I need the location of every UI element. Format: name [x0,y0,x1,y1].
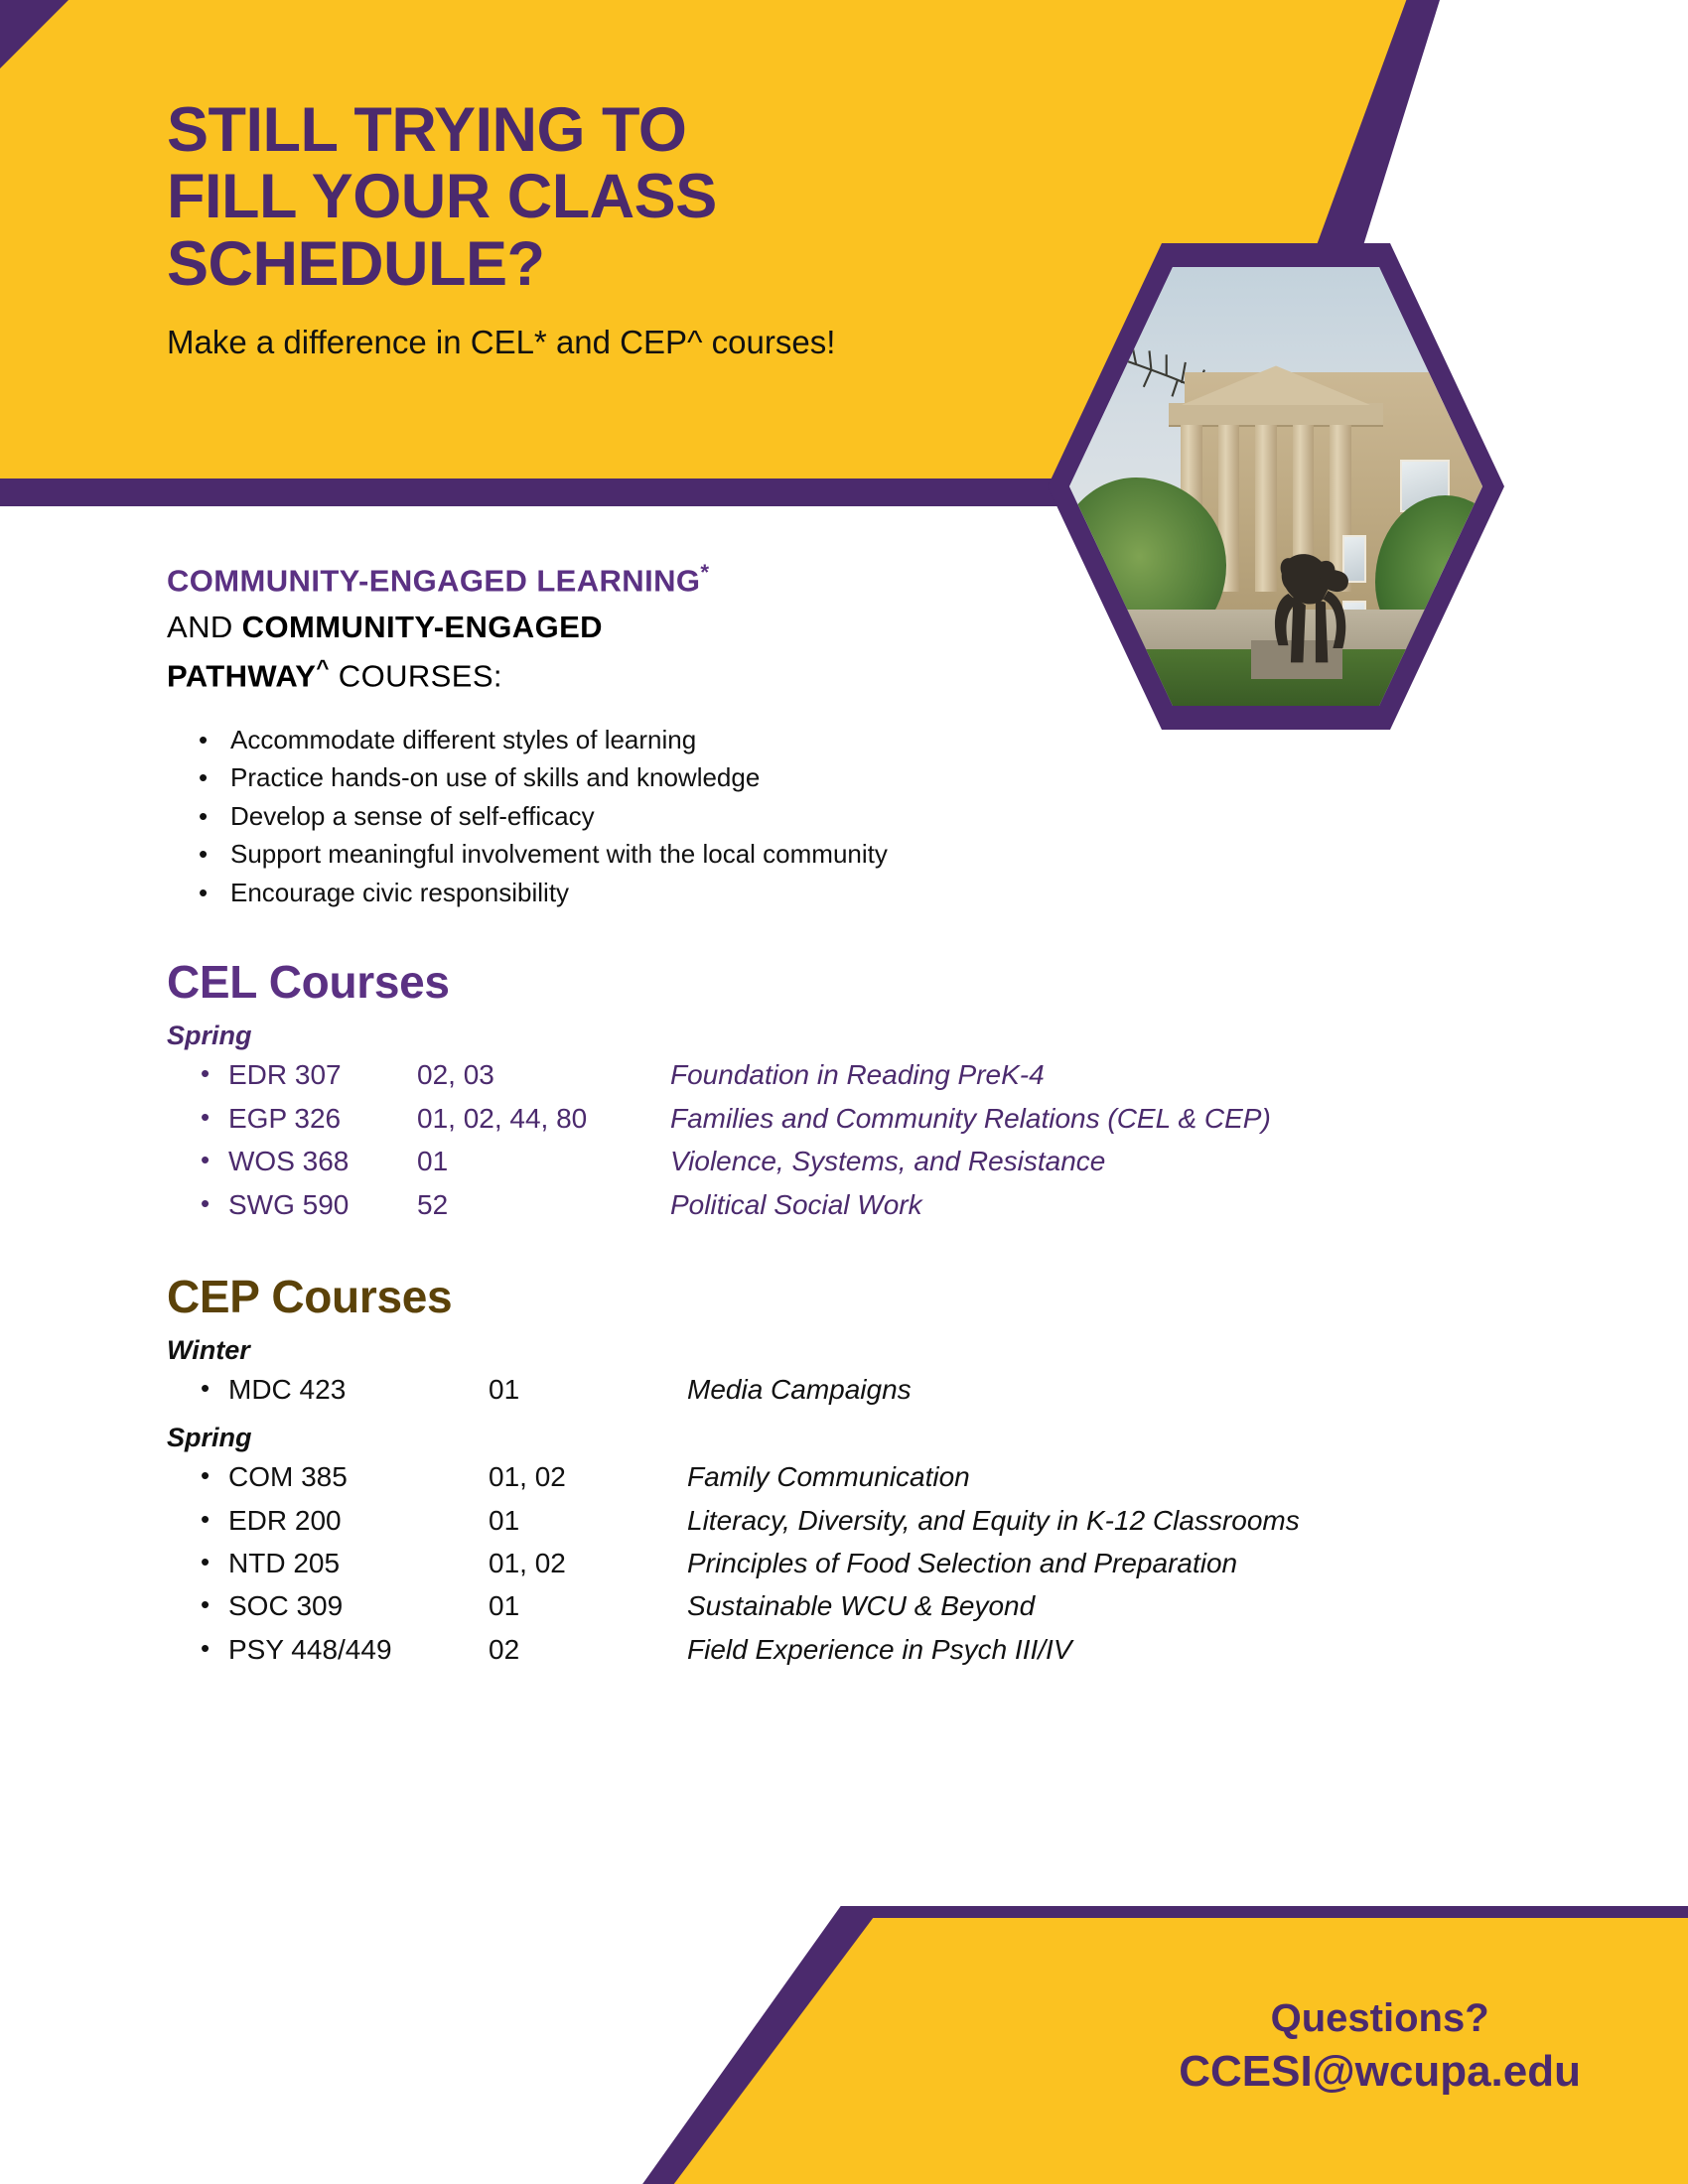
course-code: PSY 448/449 [228,1628,489,1671]
course-title: Violence, Systems, and Resistance [670,1140,1105,1182]
course-sections: 01, 02 [489,1542,687,1584]
course-sections: 02, 03 [417,1053,670,1096]
course-list-cel-spring: EDR 307 02, 03 Foundation in Reading Pre… [167,1053,1557,1226]
course-sections: 01 [417,1140,670,1182]
category-heading-cel: COMMUNITY-ENGAGED LEARNING* [167,556,1557,604]
list-item: Practice hands-on use of skills and know… [226,758,1557,796]
category-heading-cel-text: COMMUNITY-ENGAGED LEARNING [167,563,700,598]
page-title: STILL TRYING TO FILL YOUR CLASS SCHEDULE… [167,97,1021,298]
course-title: Political Social Work [670,1183,922,1226]
course-sections: 01 [489,1584,687,1627]
category-and-word: AND [167,610,242,644]
course-code: SWG 590 [228,1183,417,1226]
course-code: EGP 326 [228,1097,417,1140]
course-title: Foundation in Reading PreK-4 [670,1053,1045,1096]
term-label-cel-spring: Spring [167,1021,1557,1051]
table-row: SWG 590 52 Political Social Work [228,1183,1557,1226]
courses-word: COURSES: [330,658,502,693]
table-row: SOC 309 01 Sustainable WCU & Beyond [228,1584,1557,1627]
course-title: Family Communication [687,1455,970,1498]
header-content: STILL TRYING TO FILL YOUR CLASS SCHEDULE… [167,97,1021,369]
flyer-page: STILL TRYING TO FILL YOUR CLASS SCHEDULE… [0,0,1688,2184]
course-sections: 01, 02 [489,1455,687,1498]
term-label-cep-spring: Spring [167,1423,1557,1453]
section-heading-cel: CEL Courses [167,955,1557,1009]
section-heading-cep: CEP Courses [167,1270,1557,1323]
benefits-list: Accommodate different styles of learning… [167,721,1557,911]
questions-label: Questions? [1179,1996,1581,2041]
asterisk-marker: * [700,560,709,585]
course-sections: 02 [489,1628,687,1671]
course-title: Media Campaigns [687,1368,912,1411]
table-row: MDC 423 01 Media Campaigns [228,1368,1557,1411]
table-row: EDR 307 02, 03 Foundation in Reading Pre… [228,1053,1557,1096]
course-code: MDC 423 [228,1368,489,1411]
list-item: Encourage civic responsibility [226,874,1557,911]
course-code: EDR 307 [228,1053,417,1096]
headline-line-1: STILL TRYING TO [167,97,1021,164]
course-code: EDR 200 [228,1499,489,1542]
course-code: COM 385 [228,1455,489,1498]
course-code: SOC 309 [228,1584,489,1627]
course-title: Literacy, Diversity, and Equity in K-12 … [687,1499,1300,1542]
course-title: Field Experience in Psych III/IV [687,1628,1072,1671]
table-row: WOS 368 01 Violence, Systems, and Resist… [228,1140,1557,1182]
headline-line-3: SCHEDULE? [167,231,1021,298]
footer-banner: Questions? CCESI@wcupa.edu [0,1906,1688,2184]
list-item: Accommodate different styles of learning [226,721,1557,758]
course-title: Families and Community Relations (CEL & … [670,1097,1271,1140]
table-row: NTD 205 01, 02 Principles of Food Select… [228,1542,1557,1584]
course-sections: 01 [489,1499,687,1542]
course-sections: 01 [489,1368,687,1411]
course-sections: 52 [417,1183,670,1226]
caret-marker: ^ [316,655,329,680]
course-code: WOS 368 [228,1140,417,1182]
photo-entablature [1169,403,1383,427]
course-sections: 01, 02, 44, 80 [417,1097,670,1140]
course-title: Principles of Food Selection and Prepara… [687,1542,1237,1584]
category-heading-cep-line2: PATHWAY^ COURSES: [167,651,1557,699]
course-list-cep-winter: MDC 423 01 Media Campaigns [167,1368,1557,1411]
category-heading-cep-bold: COMMUNITY-ENGAGED [242,610,603,644]
list-item: Develop a sense of self-efficacy [226,797,1557,835]
list-item: Support meaningful involvement with the … [226,835,1557,873]
term-label-cep-winter: Winter [167,1335,1557,1366]
category-heading-cep-line1: AND COMMUNITY-ENGAGED [167,604,1557,650]
course-title: Sustainable WCU & Beyond [687,1584,1035,1627]
course-list-cep-spring: COM 385 01, 02 Family Communication EDR … [167,1455,1557,1671]
table-row: EGP 326 01, 02, 44, 80 Families and Comm… [228,1097,1557,1140]
headline-line-2: FILL YOUR CLASS [167,164,1021,230]
main-content: COMMUNITY-ENGAGED LEARNING* AND COMMUNIT… [167,556,1557,1671]
contact-email[interactable]: CCESI@wcupa.edu [1179,2047,1581,2097]
header-subtitle: Make a difference in CEL* and CEP^ cours… [167,316,882,368]
course-code: NTD 205 [228,1542,489,1584]
pathway-word: PATHWAY [167,658,316,693]
footer-contact: Questions? CCESI@wcupa.edu [1179,1996,1581,2097]
table-row: EDR 200 01 Literacy, Diversity, and Equi… [228,1499,1557,1542]
table-row: COM 385 01, 02 Family Communication [228,1455,1557,1498]
table-row: PSY 448/449 02 Field Experience in Psych… [228,1628,1557,1671]
